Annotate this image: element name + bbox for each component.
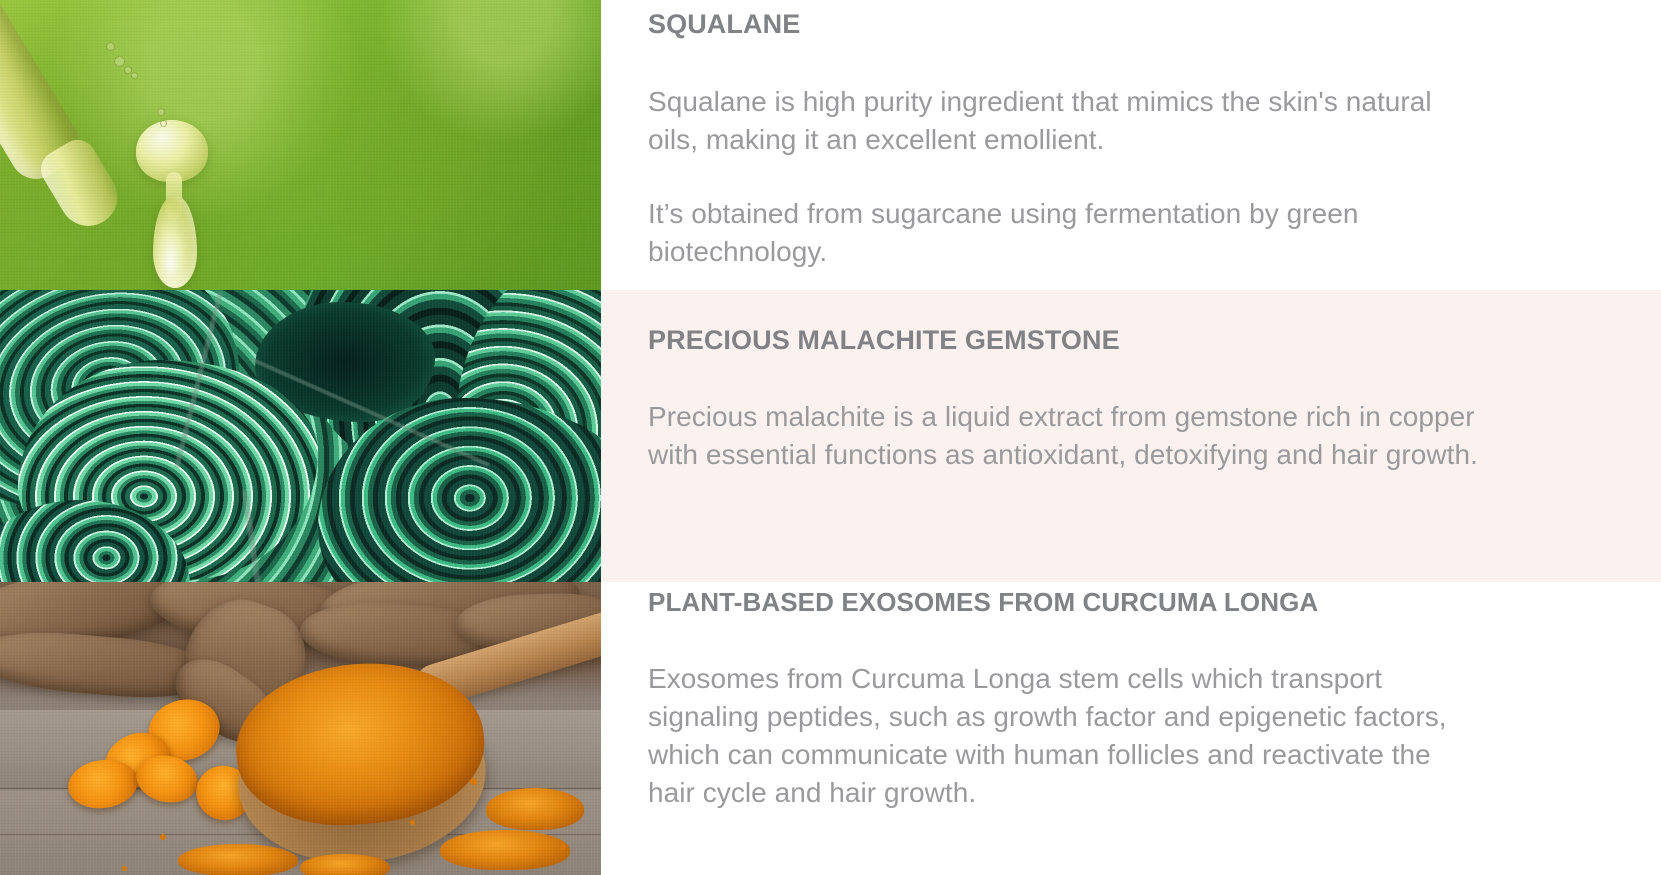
- ingredient-title-squalane: SQUALANE: [648, 8, 1481, 40]
- ingredient-title-precious-malachite-gemstone: PRECIOUS MALACHITE GEMSTONE: [648, 324, 1481, 356]
- ingredient-paragraph: Precious malachite is a liquid extract f…: [648, 398, 1481, 474]
- ingredient-paragraph: Exosomes from Curcuma Longa stem cells w…: [648, 660, 1481, 812]
- air-bubble-icon: [106, 42, 115, 51]
- turmeric-powder-pile: [300, 854, 390, 875]
- turmeric-powder-pile: [178, 844, 298, 875]
- ingredient-copy-squalane: SQUALANE Squalane is high purity ingredi…: [601, 0, 1661, 290]
- ingredient-title-plant-based-exosomes-from-curcuma-longa: PLANT-BASED EXOSOMES FROM CURCUMA LONGA: [648, 586, 1481, 618]
- ingredient-paragraph: Squalane is high purity ingredient that …: [648, 83, 1481, 159]
- turmeric-powder-grain: [410, 820, 415, 825]
- air-bubble-icon: [157, 108, 165, 116]
- air-bubble-icon: [114, 56, 125, 67]
- dropper-oil-drop-green-background-image: [0, 0, 601, 290]
- air-bubble-icon: [131, 72, 138, 79]
- ingredients-page: SQUALANE Squalane is high purity ingredi…: [0, 0, 1661, 875]
- turmeric-powder-grain: [560, 844, 566, 850]
- ingredient-copy-curcuma: PLANT-BASED EXOSOMES FROM CURCUMA LONGA …: [601, 582, 1661, 875]
- air-bubble-icon: [160, 120, 167, 127]
- ingredient-image-turmeric: [0, 582, 601, 875]
- turmeric-powder-pile: [440, 830, 570, 870]
- turmeric-powder-grain: [122, 866, 127, 871]
- oil-droplet-shape: [153, 196, 197, 288]
- turmeric-powder-pile: [486, 788, 584, 830]
- malachite-gemstone-texture-image: [0, 290, 601, 582]
- turmeric-powder-grain: [470, 778, 477, 785]
- ingredient-section-plant-based-exosomes-from-curcuma-longa: PLANT-BASED EXOSOMES FROM CURCUMA LONGA …: [0, 582, 1661, 875]
- ingredient-section-squalane: SQUALANE Squalane is high purity ingredi…: [0, 0, 1661, 290]
- ingredient-paragraph: It’s obtained from sugarcane using ferme…: [648, 195, 1481, 271]
- ingredient-section-precious-malachite-gemstone: PRECIOUS MALACHITE GEMSTONE Precious mal…: [0, 290, 1661, 582]
- ingredient-image-malachite: [0, 290, 601, 582]
- turmeric-root-powder-wooden-spoon-image: [0, 582, 601, 875]
- turmeric-powder-grain: [160, 834, 166, 840]
- ingredient-image-squalane: [0, 0, 601, 290]
- ingredient-copy-malachite: PRECIOUS MALACHITE GEMSTONE Precious mal…: [601, 290, 1661, 582]
